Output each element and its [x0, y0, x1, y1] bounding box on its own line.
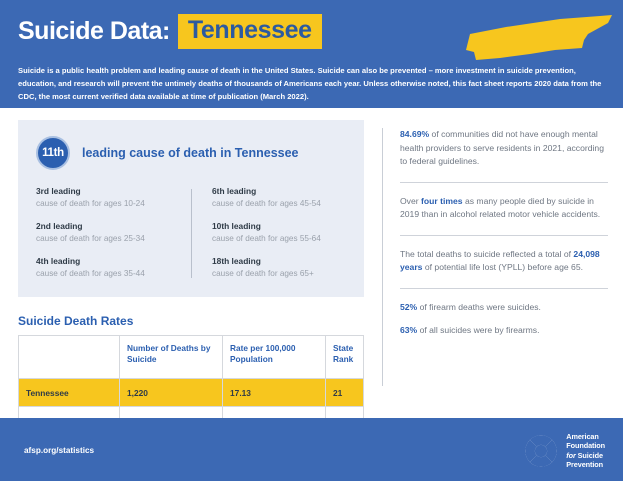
cause-desc-label: cause of death for ages 65+ — [212, 268, 346, 279]
title-state-badge: Tennessee — [178, 14, 322, 49]
cause-rank-label: 4th leading — [36, 256, 191, 266]
stat-separator — [400, 182, 608, 183]
stat-block-providers: 84.69% of communities did not have enoug… — [400, 128, 608, 169]
leading-cause-grid: 3rd leading cause of death for ages 10-2… — [36, 186, 346, 279]
list-item: 18th leading cause of death for ages 65+ — [212, 256, 346, 279]
table-col-header-deaths: Number of Deaths by Suicide — [120, 336, 223, 379]
table-row: Tennessee 1,220 17.13 21 — [19, 379, 364, 407]
cause-rank-label: 6th leading — [212, 186, 346, 196]
table-header-row: Number of Deaths by Suicide Rate per 100… — [19, 336, 364, 379]
right-column: 84.69% of communities did not have enoug… — [400, 128, 608, 338]
stat-block-comparison: Over four times as many people died by s… — [400, 195, 608, 222]
logo-line-prevention: Prevention — [566, 460, 605, 469]
cause-desc-label: cause of death for ages 10-24 — [36, 198, 191, 209]
table-col-header-rate: Rate per 100,000 Population — [223, 336, 326, 379]
stat-block-ypll: The total deaths to suicide reflected a … — [400, 248, 608, 275]
afsp-logo: American Foundation for Suicide Preventi… — [524, 432, 605, 469]
stat-text-ypll: of potential life lost (YPLL) before age… — [422, 262, 583, 272]
cause-desc-label: cause of death for ages 35-44 — [36, 268, 191, 279]
logo-line-for-suicide: for Suicide — [566, 451, 605, 460]
header-banner: Suicide Data: Tennessee Suicide is a pub… — [0, 0, 623, 108]
stat-separator — [400, 235, 608, 236]
leading-cause-panel: 11th leading cause of death in Tennessee… — [18, 120, 364, 297]
page-title: Suicide Data: Tennessee — [18, 14, 322, 49]
title-main-text: Suicide Data: — [18, 17, 170, 46]
list-item: 4th leading cause of death for ages 35-4… — [36, 256, 191, 279]
cause-desc-label: cause of death for ages 55-64 — [212, 233, 346, 244]
cause-rank-label: 10th leading — [212, 221, 346, 231]
stat-separator — [400, 288, 608, 289]
leading-cause-headline: leading cause of death in Tennessee — [82, 146, 299, 160]
list-item: 6th leading cause of death for ages 45-5… — [212, 186, 346, 209]
left-column: 11th leading cause of death in Tennessee… — [18, 120, 364, 458]
list-item: 10th leading cause of death for ages 55-… — [212, 221, 346, 244]
cause-rank-label: 2nd leading — [36, 221, 191, 231]
list-item: 2nd leading cause of death for ages 25-3… — [36, 221, 191, 244]
afsp-logo-wordmark: American Foundation for Suicide Preventi… — [566, 432, 605, 469]
header-intro-paragraph: Suicide is a public health problem and l… — [18, 64, 612, 103]
stat-text-providers: of communities did not have enough menta… — [400, 129, 604, 166]
cause-rank-label: 18th leading — [212, 256, 346, 266]
stat-text-firearm-suicides: of all suicides were by firearms. — [417, 325, 539, 335]
stat-value-comparison: four times — [421, 196, 463, 206]
cell-rate-state: 17.13 — [223, 379, 326, 407]
leading-cause-header: 11th leading cause of death in Tennessee — [36, 136, 346, 170]
rates-section-title: Suicide Death Rates — [18, 314, 364, 328]
row-label-state: Tennessee — [19, 379, 120, 407]
logo-word-suicide: Suicide — [578, 451, 603, 460]
leading-cause-column-left: 3rd leading cause of death for ages 10-2… — [36, 186, 191, 279]
stat-text-firearm-deaths: of firearm deaths were suicides. — [417, 302, 541, 312]
rank-badge-circle: 11th — [36, 136, 70, 170]
life-preserver-ring-icon — [524, 434, 558, 468]
cause-rank-label: 3rd leading — [36, 186, 191, 196]
stat-value-firearm-deaths: 52% — [400, 302, 417, 312]
stat-prefix-ypll: The total deaths to suicide reflected a … — [400, 249, 573, 259]
column-divider — [191, 189, 192, 278]
stat-block-firearm-suicides: 63% of all suicides were by firearms. — [400, 324, 608, 338]
cause-desc-label: cause of death for ages 25-34 — [36, 233, 191, 244]
column-divider-vertical — [382, 128, 383, 386]
list-item: 3rd leading cause of death for ages 10-2… — [36, 186, 191, 209]
stat-block-firearm-deaths: 52% of firearm deaths were suicides. — [400, 301, 608, 315]
footer-url-link[interactable]: afsp.org/statistics — [24, 446, 94, 455]
table-col-header-rank: State Rank — [326, 336, 364, 379]
tennessee-state-map-icon — [460, 14, 615, 62]
footer-banner: afsp.org/statistics American Foundation … — [0, 418, 623, 481]
cell-rank-state: 21 — [326, 379, 364, 407]
stat-value-firearm-suicides: 63% — [400, 325, 417, 335]
stat-value-providers: 84.69% — [400, 129, 429, 139]
logo-line-foundation: Foundation — [566, 441, 605, 450]
fact-sheet-page: Suicide Data: Tennessee Suicide is a pub… — [0, 0, 623, 481]
logo-line-american: American — [566, 432, 605, 441]
leading-cause-column-right: 6th leading cause of death for ages 45-5… — [191, 186, 346, 279]
stat-prefix-comparison: Over — [400, 196, 421, 206]
rank-badge-label: 11th — [42, 147, 64, 159]
logo-word-for: for — [566, 451, 575, 460]
cell-deaths-state: 1,220 — [120, 379, 223, 407]
table-col-header-blank — [19, 336, 120, 379]
cause-desc-label: cause of death for ages 45-54 — [212, 198, 346, 209]
